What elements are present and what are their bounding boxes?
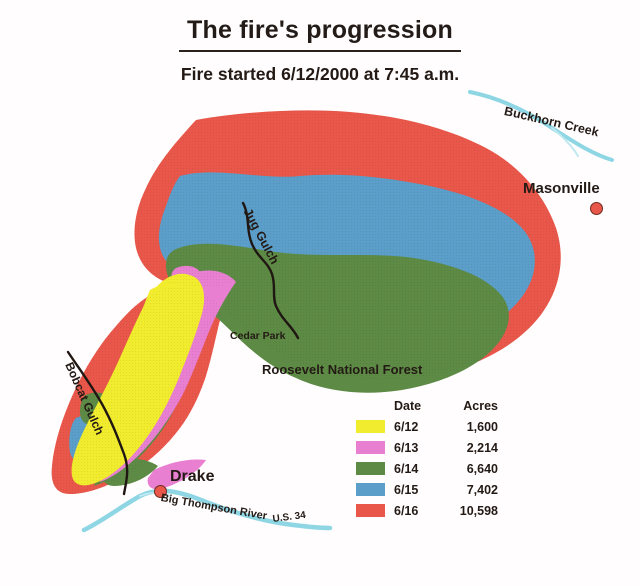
legend-acres-6-16: 10,598 bbox=[438, 504, 498, 518]
big-thompson-river-waterway bbox=[84, 491, 330, 530]
city-dot-drake bbox=[154, 485, 167, 498]
legend-swatch-6-15 bbox=[356, 483, 385, 496]
legend-column-date: Date bbox=[394, 399, 438, 413]
map-graphic bbox=[0, 0, 640, 586]
legend-row: 6/15 7,402 bbox=[356, 479, 498, 500]
legend-date-6-12: 6/12 bbox=[394, 420, 438, 434]
legend-acres-6-14: 6,640 bbox=[438, 462, 498, 476]
buckhorn-creek-waterway bbox=[470, 92, 612, 160]
legend-acres-6-13: 2,214 bbox=[438, 441, 498, 455]
legend-row: 6/16 10,598 bbox=[356, 500, 498, 521]
legend-swatch-6-13 bbox=[356, 441, 385, 454]
fire-progression-map-page: The fire's progression Fire started 6/12… bbox=[0, 0, 640, 586]
legend: Date Acres 6/12 1,600 6/13 2,214 6/14 6,… bbox=[356, 399, 498, 521]
legend-acres-6-15: 7,402 bbox=[438, 483, 498, 497]
legend-row: 6/12 1,600 bbox=[356, 416, 498, 437]
map-texture-overlay bbox=[0, 0, 640, 586]
legend-acres-6-12: 1,600 bbox=[438, 420, 498, 434]
legend-date-6-14: 6/14 bbox=[394, 462, 438, 476]
legend-swatch-6-12 bbox=[356, 420, 385, 433]
legend-date-6-16: 6/16 bbox=[394, 504, 438, 518]
legend-column-acres: Acres bbox=[438, 399, 498, 413]
legend-header-row: Date Acres bbox=[356, 399, 498, 416]
legend-swatch-6-14 bbox=[356, 462, 385, 475]
legend-swatch-6-16 bbox=[356, 504, 385, 517]
legend-date-6-15: 6/15 bbox=[394, 483, 438, 497]
city-dot-masonville bbox=[590, 202, 603, 215]
legend-row: 6/14 6,640 bbox=[356, 458, 498, 479]
page-subtitle: Fire started 6/12/2000 at 7:45 a.m. bbox=[0, 64, 640, 85]
legend-row: 6/13 2,214 bbox=[356, 437, 498, 458]
legend-date-6-13: 6/13 bbox=[394, 441, 438, 455]
